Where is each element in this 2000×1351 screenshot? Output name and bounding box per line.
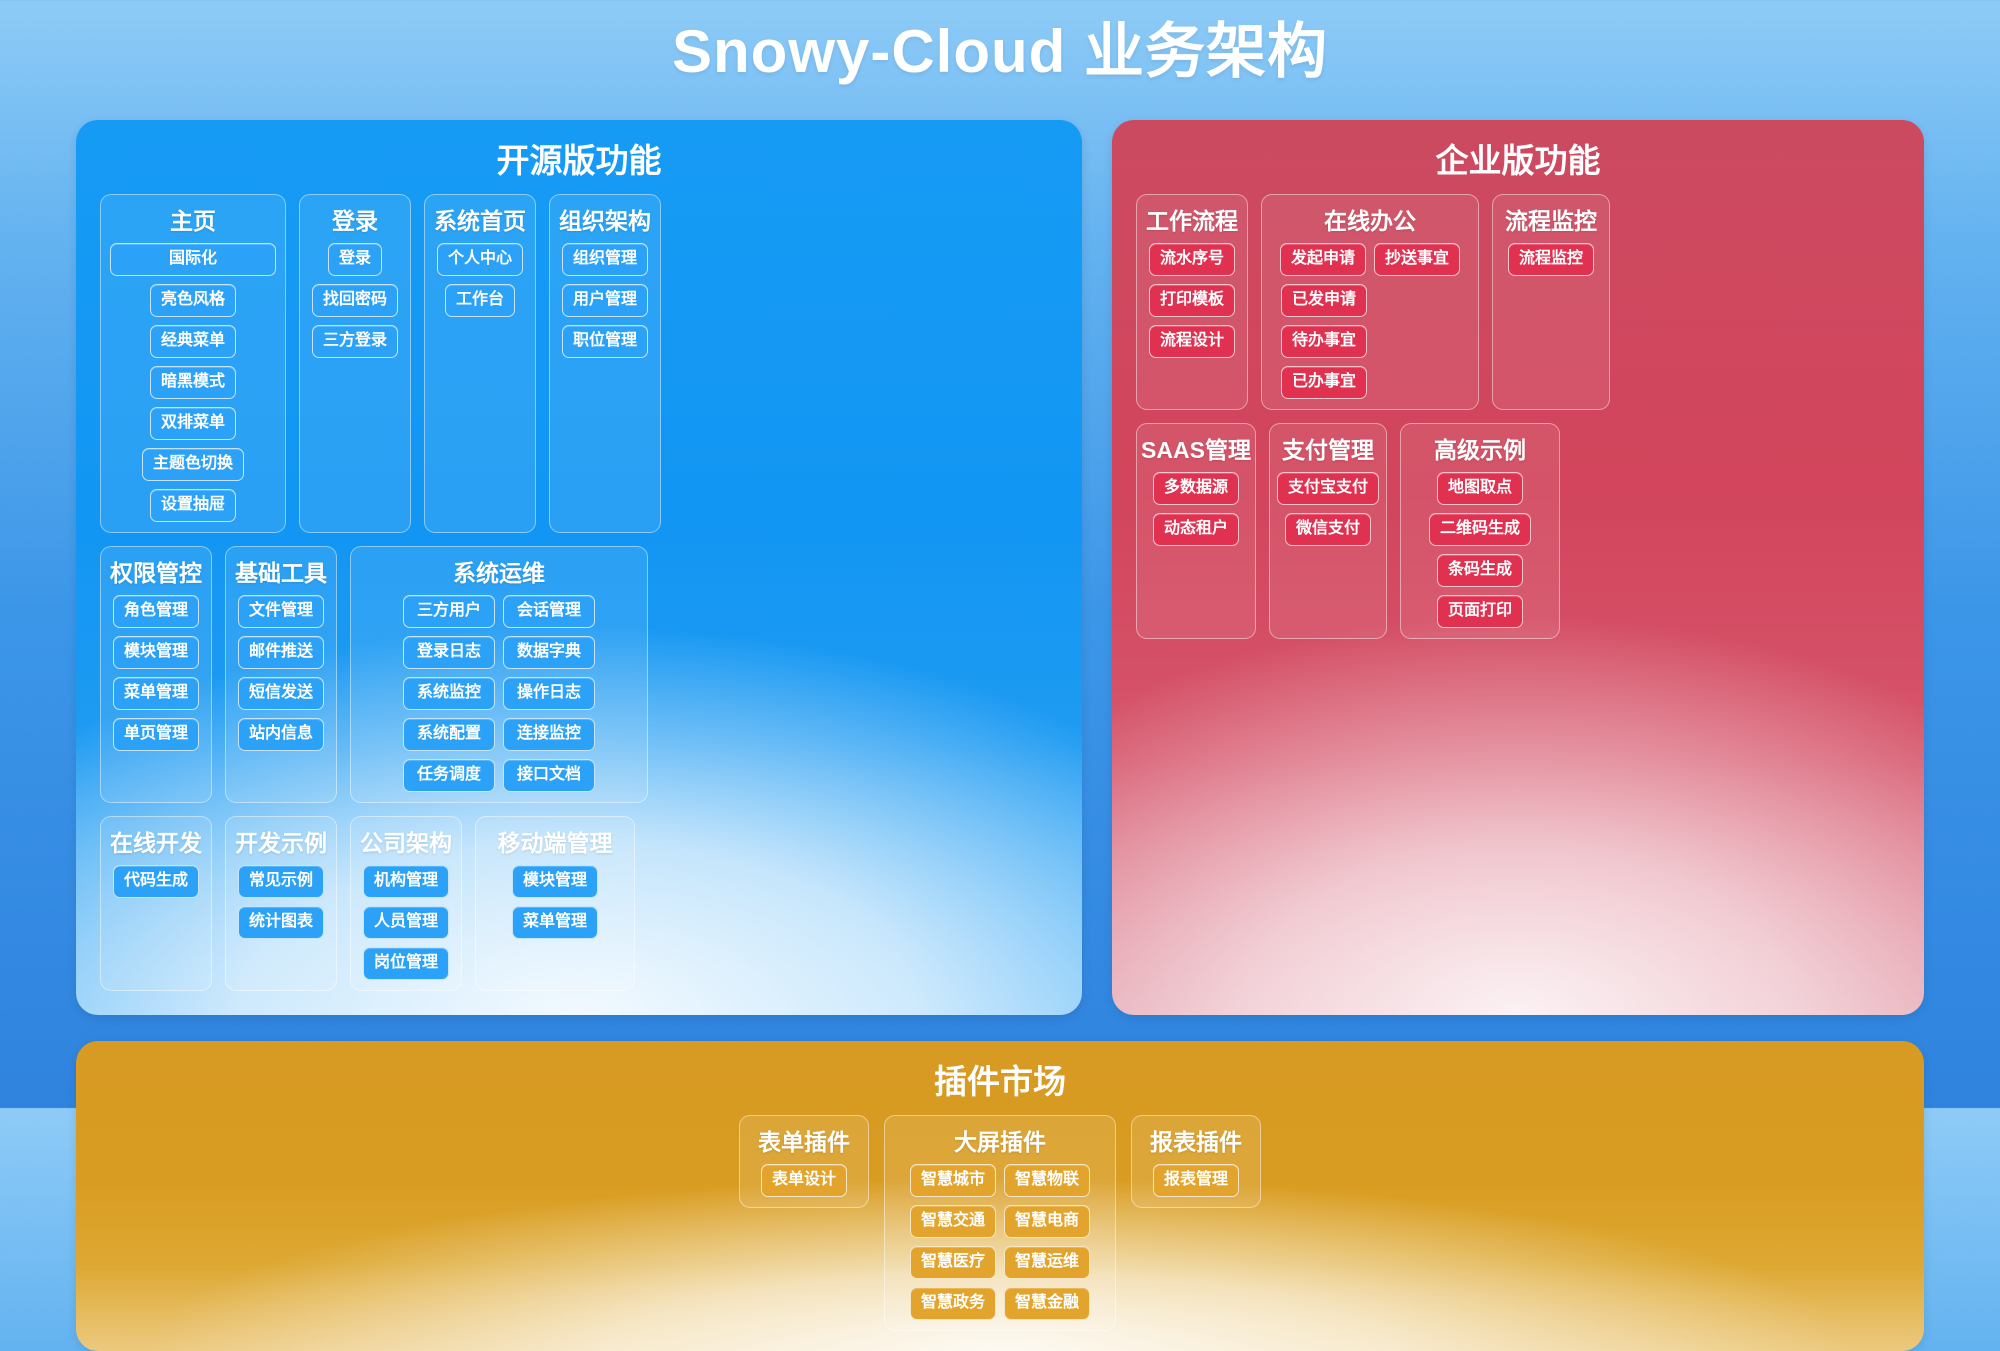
chip-item[interactable]: 智慧医疗: [910, 1246, 996, 1279]
chip-item[interactable]: 国际化: [110, 243, 276, 276]
chip-item[interactable]: 支付宝支付: [1277, 472, 1379, 505]
spacer: [1623, 194, 1900, 410]
chip-item[interactable]: 二维码生成: [1429, 513, 1531, 546]
chip-item[interactable]: 亮色风格: [150, 284, 236, 317]
chip-item[interactable]: 系统监控: [403, 677, 495, 710]
spacer: [674, 194, 1058, 533]
chip-item[interactable]: 连接监控: [503, 718, 595, 751]
chip-list: 国际化 亮色风格 经典菜单 暗黑模式 双排菜单 主题色切换 设置抽屉: [110, 243, 276, 522]
chip-item[interactable]: 系统配置: [403, 718, 495, 751]
plugin-groups-row: 表单插件 表单设计 大屏插件 智慧城市 智慧物联 智慧交通 智慧电商 智慧医疗 …: [100, 1115, 1900, 1331]
spacer: [1573, 423, 1900, 639]
chip-item[interactable]: 代码生成: [113, 865, 199, 898]
chip-item[interactable]: 工作台: [445, 284, 515, 317]
group-title: 移动端管理: [498, 824, 613, 858]
group-title: 工作流程: [1146, 202, 1238, 236]
group-title: 表单插件: [758, 1123, 850, 1157]
chip-item[interactable]: 任务调度: [403, 759, 495, 792]
group-title: 在线开发: [110, 824, 202, 858]
chip-item[interactable]: 智慧金融: [1004, 1287, 1090, 1320]
chip-item[interactable]: 智慧城市: [910, 1164, 996, 1197]
group-title: 主页: [170, 202, 216, 236]
chip-item[interactable]: 角色管理: [113, 595, 199, 628]
chip-item[interactable]: 已发申请: [1281, 284, 1367, 317]
chip-item[interactable]: 组织管理: [562, 243, 648, 276]
chip-item[interactable]: 打印模板: [1149, 284, 1235, 317]
spacer: [648, 816, 1058, 991]
open-source-panel: 开源版功能 主页 国际化 亮色风格 经典菜单 暗黑模式 双排菜单 主题色切换 设…: [76, 120, 1082, 1015]
chip-item[interactable]: 页面打印: [1437, 595, 1523, 628]
group-payment: 支付管理 支付宝支付 微信支付: [1269, 423, 1387, 639]
chip-item[interactable]: 设置抽屉: [150, 489, 236, 522]
group-mobile-management: 移动端管理 模块管理 菜单管理: [475, 816, 635, 991]
chip-item[interactable]: 条码生成: [1437, 554, 1523, 587]
open-source-row-1: 主页 国际化 亮色风格 经典菜单 暗黑模式 双排菜单 主题色切换 设置抽屉 登录: [100, 194, 1058, 533]
chip-item[interactable]: 智慧电商: [1004, 1205, 1090, 1238]
chip-item[interactable]: 岗位管理: [363, 947, 449, 980]
group-title: 登录: [332, 202, 378, 236]
group-report-plugin: 报表插件 报表管理: [1131, 1115, 1261, 1208]
chip-item[interactable]: 主题色切换: [142, 448, 244, 481]
spacer: [661, 546, 1058, 803]
chip-list: 地图取点 二维码生成 条码生成 页面打印: [1410, 472, 1550, 628]
chip-item[interactable]: 机构管理: [363, 865, 449, 898]
group-basic-tools: 基础工具 文件管理 邮件推送 短信发送 站内信息: [225, 546, 337, 803]
chip-list: 支付宝支付 微信支付: [1277, 472, 1379, 546]
group-dev-examples: 开发示例 常见示例 统计图表: [225, 816, 337, 991]
chip-list: 三方用户 会话管理 登录日志 数据字典 系统监控 操作日志 系统配置 连接监控 …: [360, 595, 638, 792]
open-source-row-2: 权限管控 角色管理 模块管理 菜单管理 单页管理 基础工具 文件管理 邮件推送: [100, 546, 1058, 803]
chip-item[interactable]: 地图取点: [1437, 472, 1523, 505]
chip-item[interactable]: 单页管理: [113, 718, 199, 751]
chip-item[interactable]: 菜单管理: [113, 677, 199, 710]
chip-list: 个人中心 工作台: [434, 243, 526, 317]
chip-item[interactable]: 用户管理: [562, 284, 648, 317]
chip-item[interactable]: 微信支付: [1285, 513, 1371, 546]
chip-item[interactable]: 暗黑模式: [150, 366, 236, 399]
chip-list: 角色管理 模块管理 菜单管理 单页管理: [110, 595, 202, 751]
chip-list: 报表管理: [1153, 1164, 1239, 1197]
group-process-monitor: 流程监控 流程监控: [1492, 194, 1610, 410]
chip-list: 文件管理 邮件推送 短信发送 站内信息: [235, 595, 327, 751]
chip-list: 流程监控: [1508, 243, 1594, 276]
group-workflow: 工作流程 流水序号 打印模板 流程设计: [1136, 194, 1248, 410]
enterprise-panel-title: 企业版功能: [1112, 120, 1924, 194]
chip-item[interactable]: 统计图表: [238, 906, 324, 939]
group-title: 报表插件: [1150, 1123, 1242, 1157]
group-title: 在线办公: [1324, 202, 1416, 236]
chip-item[interactable]: 流程设计: [1149, 325, 1235, 358]
chip-item[interactable]: 动态租户: [1153, 513, 1239, 546]
top-panels-row: 开源版功能 主页 国际化 亮色风格 经典菜单 暗黑模式 双排菜单 主题色切换 设…: [76, 120, 1924, 1015]
chip-item[interactable]: 发起申请: [1280, 243, 1366, 276]
group-title: 系统运维: [453, 554, 545, 588]
chip-item[interactable]: 智慧运维: [1004, 1246, 1090, 1279]
chip-item[interactable]: 智慧物联: [1004, 1164, 1090, 1197]
chip-item[interactable]: 多数据源: [1153, 472, 1239, 505]
open-source-row-3: 在线开发 代码生成 开发示例 常见示例 统计图表 公司架构: [100, 816, 1058, 991]
group-title: 大屏插件: [954, 1123, 1046, 1157]
chip-item[interactable]: 接口文档: [503, 759, 595, 792]
architecture-board: 开源版功能 主页 国际化 亮色风格 经典菜单 暗黑模式 双排菜单 主题色切换 设…: [76, 120, 1924, 1351]
chip-item[interactable]: 流程监控: [1508, 243, 1594, 276]
group-saas: SAAS管理 多数据源 动态租户: [1136, 423, 1256, 639]
chip-list: 流水序号 打印模板 流程设计: [1146, 243, 1238, 358]
group-title: SAAS管理: [1141, 431, 1251, 465]
chip-list: 发起申请 抄送事宜 已发申请 待办事宜 已办事宜: [1271, 243, 1469, 399]
group-operations: 系统运维 三方用户 会话管理 登录日志 数据字典 系统监控 操作日志 系统配置 …: [350, 546, 648, 803]
enterprise-panel-body: 工作流程 流水序号 打印模板 流程设计 在线办公 发起申请 抄送事宜 已发申请: [1112, 194, 1924, 663]
chip-item[interactable]: 已办事宜: [1281, 366, 1367, 399]
chip-list: 多数据源 动态租户: [1146, 472, 1246, 546]
chip-item[interactable]: 模块管理: [113, 636, 199, 669]
group-login: 登录 登录 找回密码 三方登录: [299, 194, 411, 533]
chip-item[interactable]: 邮件推送: [238, 636, 324, 669]
chip-item[interactable]: 双排菜单: [150, 407, 236, 440]
chip-item[interactable]: 登录: [328, 243, 382, 276]
group-bigscreen-plugin: 大屏插件 智慧城市 智慧物联 智慧交通 智慧电商 智慧医疗 智慧运维 智慧政务 …: [884, 1115, 1116, 1331]
group-system-home: 系统首页 个人中心 工作台: [424, 194, 536, 533]
enterprise-panel: 企业版功能 工作流程 流水序号 打印模板 流程设计 在线办公: [1112, 120, 1924, 1015]
chip-item[interactable]: 登录日志: [403, 636, 495, 669]
chip-list: 登录 找回密码 三方登录: [309, 243, 401, 358]
chip-list: 表单设计: [761, 1164, 847, 1197]
chip-item[interactable]: 经典菜单: [150, 325, 236, 358]
chip-item[interactable]: 短信发送: [238, 677, 324, 710]
chip-item[interactable]: 数据字典: [503, 636, 595, 669]
plugin-market-panel-title: 插件市场: [76, 1041, 1924, 1115]
group-form-plugin: 表单插件 表单设计: [739, 1115, 869, 1208]
plugin-market-panel: 插件市场 表单插件 表单设计 大屏插件 智慧城市 智慧物联 智慧交通 智慧电商: [76, 1041, 1924, 1351]
chip-item[interactable]: 常见示例: [238, 865, 324, 898]
chip-list: 常见示例 统计图表: [235, 865, 327, 939]
chip-item[interactable]: 操作日志: [503, 677, 595, 710]
group-company-structure: 公司架构 机构管理 人员管理 岗位管理: [350, 816, 462, 991]
group-online-office: 在线办公 发起申请 抄送事宜 已发申请 待办事宜 已办事宜: [1261, 194, 1479, 410]
chip-item[interactable]: 站内信息: [238, 718, 324, 751]
chip-item[interactable]: 三方用户: [403, 595, 495, 628]
group-online-dev: 在线开发 代码生成: [100, 816, 212, 991]
chip-item[interactable]: 菜单管理: [512, 906, 598, 939]
chip-item[interactable]: 个人中心: [437, 243, 523, 276]
page-title: Snowy-Cloud 业务架构: [0, 0, 2000, 88]
group-title: 系统首页: [434, 202, 526, 236]
chip-item[interactable]: 找回密码: [312, 284, 398, 317]
chip-item[interactable]: 抄送事宜: [1374, 243, 1460, 276]
chip-list: 机构管理 人员管理 岗位管理: [360, 865, 452, 980]
group-title: 组织架构: [559, 202, 651, 236]
chip-list: 代码生成: [113, 865, 199, 898]
chip-item[interactable]: 文件管理: [238, 595, 324, 628]
open-source-panel-title: 开源版功能: [76, 120, 1082, 194]
group-title: 公司架构: [360, 824, 452, 858]
group-title: 高级示例: [1434, 431, 1526, 465]
enterprise-row-2: SAAS管理 多数据源 动态租户 支付管理 支付宝支付 微信支付: [1136, 423, 1900, 639]
chip-item[interactable]: 报表管理: [1153, 1164, 1239, 1197]
open-source-panel-body: 主页 国际化 亮色风格 经典菜单 暗黑模式 双排菜单 主题色切换 设置抽屉 登录: [76, 194, 1082, 1015]
chip-item[interactable]: 待办事宜: [1281, 325, 1367, 358]
chip-list: 组织管理 用户管理 职位管理: [559, 243, 651, 358]
chip-item[interactable]: 流水序号: [1149, 243, 1235, 276]
group-home: 主页 国际化 亮色风格 经典菜单 暗黑模式 双排菜单 主题色切换 设置抽屉: [100, 194, 286, 533]
group-title: 支付管理: [1282, 431, 1374, 465]
chip-item[interactable]: 智慧交通: [910, 1205, 996, 1238]
plugin-market-panel-body: 表单插件 表单设计 大屏插件 智慧城市 智慧物联 智慧交通 智慧电商 智慧医疗 …: [76, 1115, 1924, 1351]
chip-item[interactable]: 人员管理: [363, 906, 449, 939]
chip-item[interactable]: 职位管理: [562, 325, 648, 358]
chip-item[interactable]: 表单设计: [761, 1164, 847, 1197]
chip-item[interactable]: 智慧政务: [910, 1287, 996, 1320]
chip-list: 模块管理 菜单管理: [485, 865, 625, 939]
enterprise-row-1: 工作流程 流水序号 打印模板 流程设计 在线办公 发起申请 抄送事宜 已发申请: [1136, 194, 1900, 410]
group-title: 流程监控: [1505, 202, 1597, 236]
group-title: 权限管控: [110, 554, 202, 588]
chip-list: 智慧城市 智慧物联 智慧交通 智慧电商 智慧医疗 智慧运维 智慧政务 智慧金融: [894, 1164, 1106, 1320]
group-title: 基础工具: [235, 554, 327, 588]
group-org-structure: 组织架构 组织管理 用户管理 职位管理: [549, 194, 661, 533]
group-permission: 权限管控 角色管理 模块管理 菜单管理 单页管理: [100, 546, 212, 803]
group-advanced-examples: 高级示例 地图取点 二维码生成 条码生成 页面打印: [1400, 423, 1560, 639]
chip-item[interactable]: 会话管理: [503, 595, 595, 628]
group-title: 开发示例: [235, 824, 327, 858]
chip-item[interactable]: 三方登录: [312, 325, 398, 358]
chip-item[interactable]: 模块管理: [512, 865, 598, 898]
